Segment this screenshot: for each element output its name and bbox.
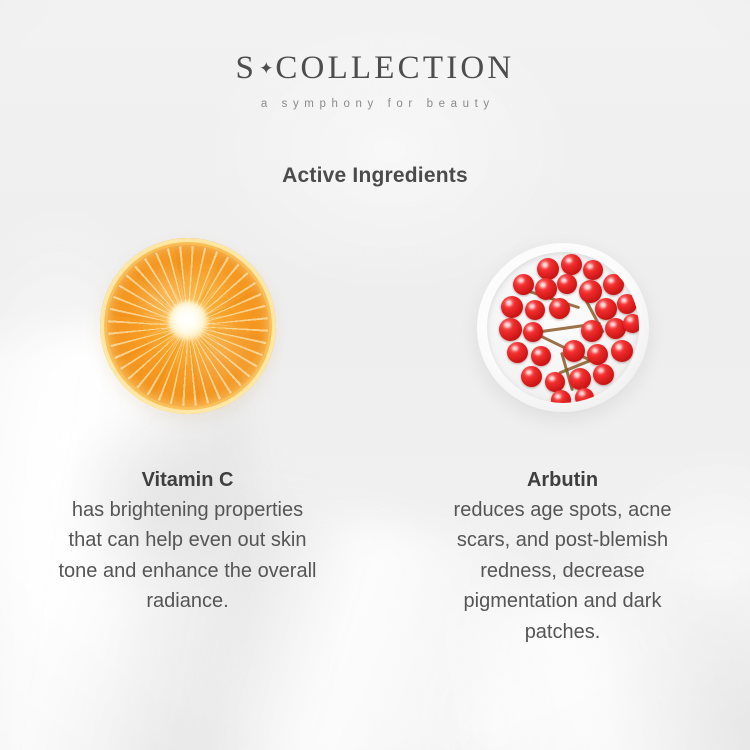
ingredient-text-arbutin: Arbutin reduces age spots, acne scars, a…: [428, 465, 698, 647]
ingredient-description: reduces age spots, acne scars, and post-…: [454, 499, 672, 643]
bowl-interior: [487, 252, 639, 403]
berry: [531, 346, 551, 366]
brand-name: S✦COLLECTION: [0, 52, 750, 85]
berry: [507, 342, 528, 363]
berry: [561, 254, 582, 275]
berry: [545, 372, 565, 392]
berry: [537, 258, 559, 280]
ingredient-text-vitamin-c: Vitamin C has brightening properties tha…: [53, 465, 323, 617]
brand-name-word: COLLECTION: [275, 50, 514, 86]
ingredients-grid: Vitamin C has brightening properties tha…: [0, 230, 750, 647]
berry: [549, 298, 570, 319]
berry: [525, 300, 545, 320]
red-berries-bowl-image: [473, 230, 653, 410]
section-heading: Active Ingredients: [0, 164, 750, 188]
ingredient-column-vitamin-c: Vitamin C has brightening properties tha…: [0, 230, 375, 647]
berry: [557, 274, 577, 294]
ingredient-name: Vitamin C: [142, 469, 234, 491]
orange-slice-image: [98, 230, 278, 410]
berry: [551, 390, 571, 403]
berry: [593, 364, 614, 385]
berry: [611, 340, 633, 362]
ingredient-description: has brightening properties that can help…: [59, 499, 317, 612]
berry: [595, 298, 617, 320]
berry: [617, 294, 637, 314]
berry: [587, 344, 608, 365]
ingredient-infographic-card: S✦COLLECTION a symphony for beauty Activ…: [0, 0, 750, 750]
berry: [583, 260, 603, 280]
white-bowl-graphic: [477, 243, 649, 412]
brand-logo: S✦COLLECTION a symphony for beauty: [0, 52, 750, 110]
berry: [581, 320, 603, 342]
berry: [499, 318, 522, 341]
berry: [521, 366, 542, 387]
brand-tagline: a symphony for beauty: [0, 98, 750, 110]
berry: [575, 388, 594, 403]
berry: [501, 296, 523, 318]
berry: [513, 274, 534, 295]
orange-slice-graphic: [100, 238, 276, 414]
berry: [569, 368, 591, 390]
brand-name-initial: S: [236, 50, 258, 86]
orange-peel-rim: [100, 238, 276, 414]
ingredient-column-arbutin: Arbutin reduces age spots, acne scars, a…: [375, 230, 750, 647]
ingredient-name: Arbutin: [527, 469, 598, 491]
berry: [623, 314, 639, 333]
berry: [563, 340, 585, 362]
brand-separator-diamond-icon: ✦: [257, 59, 275, 78]
berry: [523, 322, 543, 342]
berry: [603, 274, 624, 295]
berry: [535, 278, 557, 300]
